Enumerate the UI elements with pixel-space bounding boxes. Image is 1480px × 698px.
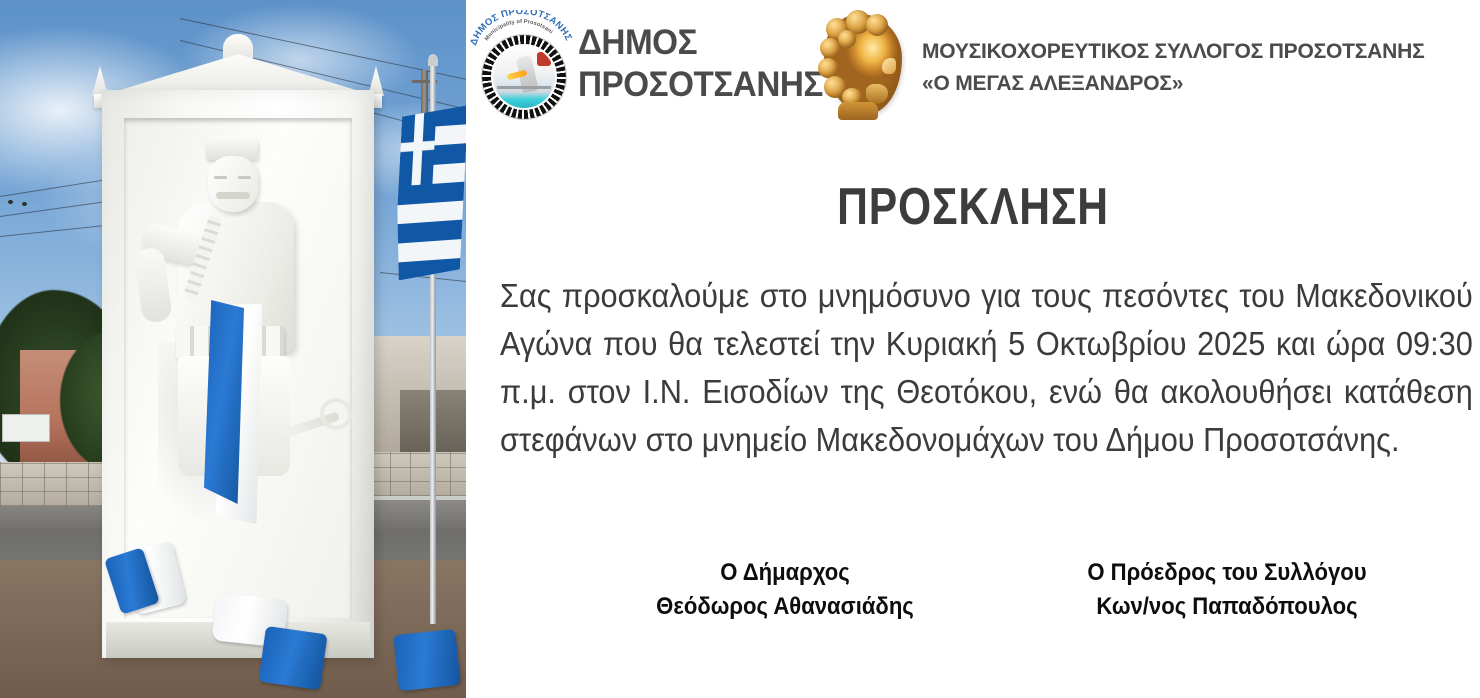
wreath-ribbon-blue	[393, 629, 461, 691]
emblem-ground-line	[497, 86, 551, 89]
association-title: ΜΟΥΣΙΚΟΧΟΡΕΥΤΙΚΟΣ ΣΥΛΛΟΓΟΣ ΠΡΟΣΟΤΣΑΝΗΣ «…	[922, 36, 1470, 100]
municipality-title: ΔΗΜΟΣ ΠΡΟΣΟΤΣΑΝΗΣ	[578, 22, 823, 106]
signature-name: Κων/νος Παπαδόπουλος	[1029, 590, 1425, 624]
signature-mayor: Ο Δήμαρχος Θεόδωρος Αθανασιάδης	[587, 556, 983, 624]
invitation-body-text: Σας προσκαλούμε στο μνημόσυνο για τους π…	[500, 277, 1473, 458]
signature-role: Ο Πρόεδρος του Συλλόγου	[1029, 556, 1425, 590]
invitation-poster: ΔΗΜΟΣ ΠΡΟΣΟΤΣΑΝΗΣ Municipality of Prosot…	[0, 0, 1480, 698]
poster-header: ΔΗΜΟΣ ΠΡΟΣΟΤΣΑΝΗΣ Municipality of Prosot…	[466, 0, 1480, 130]
bust-curl	[820, 38, 840, 58]
wreath-ribbon-blue	[258, 626, 327, 690]
association-title-line1: ΜΟΥΣΙΚΟΧΟΡΕΥΤΙΚΟΣ ΣΥΛΛΟΓΟΣ ΠΡΟΣΟΤΣΑΝΗΣ	[922, 40, 1424, 63]
flag-cross-horizontal	[400, 141, 434, 152]
street-sign	[2, 414, 50, 442]
page-title: ΠΡΟΣΚΛΗΣΗ	[557, 178, 1388, 236]
signature-name: Θεόδωρος Αθανασιάδης	[587, 590, 983, 624]
bust-curl	[818, 58, 838, 78]
signature-president: Ο Πρόεδρος του Συλλόγου Κων/νος Παπαδόπο…	[1029, 556, 1425, 624]
bust-neck	[838, 102, 878, 120]
bird-on-wire	[8, 200, 13, 204]
bust-nose	[882, 58, 896, 74]
greek-flag	[394, 105, 466, 280]
bird-on-wire	[22, 202, 27, 206]
relief-moustache	[216, 192, 250, 199]
invitation-content-panel: ΔΗΜΟΣ ΠΡΟΣΟΤΣΑΝΗΣ Municipality of Prosot…	[466, 0, 1480, 698]
municipality-of-prosotsani-emblem: ΔΗΜΟΣ ΠΡΟΣΟΤΣΑΝΗΣ Municipality of Prosot…	[470, 10, 574, 122]
relief-head	[208, 156, 258, 212]
emblem-scene	[493, 46, 555, 108]
monument-photo	[0, 0, 466, 698]
emblem-red-accent	[537, 52, 551, 66]
relief-eye	[238, 176, 251, 179]
association-title-line2: «Ο ΜΕΓΑΣ ΑΛΕΞΑΝΔΡΟΣ»	[922, 68, 1470, 100]
alexander-the-great-bust-logo	[814, 8, 910, 120]
emblem-circle	[481, 34, 567, 120]
invitation-body: Σας προσκαλούμε στο μνημόσυνο για τους π…	[500, 272, 1473, 464]
bust-chin	[866, 84, 888, 104]
bust-curl	[866, 14, 888, 36]
signature-block: Ο Δήμαρχος Θεόδωρος Αθανασιάδης Ο Πρόεδρ…	[466, 556, 1480, 624]
signature-role: Ο Δήμαρχος	[587, 556, 983, 590]
relief-eye	[214, 176, 227, 179]
bust-curl	[838, 30, 856, 48]
